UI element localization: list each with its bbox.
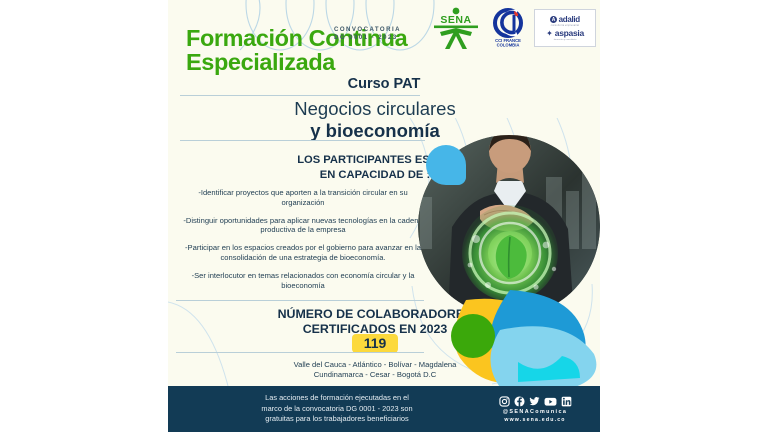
facebook-icon[interactable] <box>514 396 525 407</box>
divider-3 <box>176 300 424 301</box>
footer-disclaimer-line-3: gratuitas para los trabajadores benefici… <box>194 414 480 424</box>
decorative-color-leaf-shapes <box>414 288 600 392</box>
aspasia-mark-icon: ✦ <box>546 29 553 38</box>
adalid-logo-text: adalid <box>559 15 580 24</box>
list-item: -Participar en los espacios creados por … <box>178 243 428 262</box>
convocatoria-line-1: CONVOCATORIA <box>334 26 434 34</box>
decorative-blue-blob <box>426 145 466 185</box>
course-label: Curso PAT <box>168 76 600 92</box>
footer-disclaimer-line-2: marco de la convocatoria DG 0001 - 2023 … <box>194 404 480 414</box>
headline-line-2: Especializada <box>186 50 444 74</box>
website-url[interactable]: www.sena.edu.co <box>504 417 565 423</box>
list-item: -Identificar proyectos que aporten a la … <box>178 188 428 207</box>
course-title-line-1: Negocios circulares <box>168 98 582 120</box>
footer-bar: Las acciones de formación ejecutadas en … <box>168 386 600 432</box>
svg-text:SENA: SENA <box>440 14 471 26</box>
capacity-bullet-list: -Identificar proyectos que aporten a la … <box>178 188 428 299</box>
aspasia-logo-text: aspasia <box>555 28 584 38</box>
divider-4 <box>176 352 424 353</box>
aspasia-logo-subtext: formación y consultoría <box>554 39 577 41</box>
adalid-aspasia-logo: A adalid consultoría empresarial ✦ aspas… <box>534 9 596 47</box>
linkedin-icon[interactable] <box>561 396 572 407</box>
divider-2 <box>180 140 425 141</box>
footer-disclaimer: Las acciones de formación ejecutadas en … <box>168 393 480 424</box>
social-icons-row <box>499 396 572 407</box>
cci-france-colombia-logo: CCI FRANCE COLOMBIA <box>488 7 528 49</box>
footer-disclaimer-line-1: Las acciones de formación ejecutadas en … <box>194 393 480 403</box>
screenshot-canvas: SENA CCI FRANCE COLOMBIA A adalid co <box>0 0 768 432</box>
twitter-icon[interactable] <box>529 396 540 407</box>
adalid-mark-icon: A <box>550 16 557 23</box>
divider-1 <box>180 95 420 96</box>
adalid-logo: A adalid <box>550 15 580 24</box>
status-badge: 119 <box>352 334 399 353</box>
list-item: -Distinguir oportunidades para aplicar n… <box>178 216 428 235</box>
aspasia-logo: ✦ aspasia <box>546 28 584 38</box>
convocatoria-label: CONVOCATORIA DG 0001 - 2023 <box>334 26 434 42</box>
svg-text:COLOMBIA: COLOMBIA <box>497 43 520 48</box>
list-item: -Ser interlocutor en temas relacionados … <box>178 271 428 290</box>
social-handle[interactable]: @SENAComunica <box>503 409 568 415</box>
instagram-icon[interactable] <box>499 396 510 407</box>
adalid-logo-subtext: consultoría empresarial <box>551 25 579 27</box>
convocatoria-line-2: DG 0001 - 2023 <box>334 34 434 42</box>
youtube-icon[interactable] <box>544 396 557 407</box>
partner-logos: SENA CCI FRANCE COLOMBIA A adalid co <box>430 6 596 50</box>
poster: SENA CCI FRANCE COLOMBIA A adalid co <box>168 0 600 432</box>
footer-social: @SENAComunica www.sena.edu.co <box>480 396 600 423</box>
